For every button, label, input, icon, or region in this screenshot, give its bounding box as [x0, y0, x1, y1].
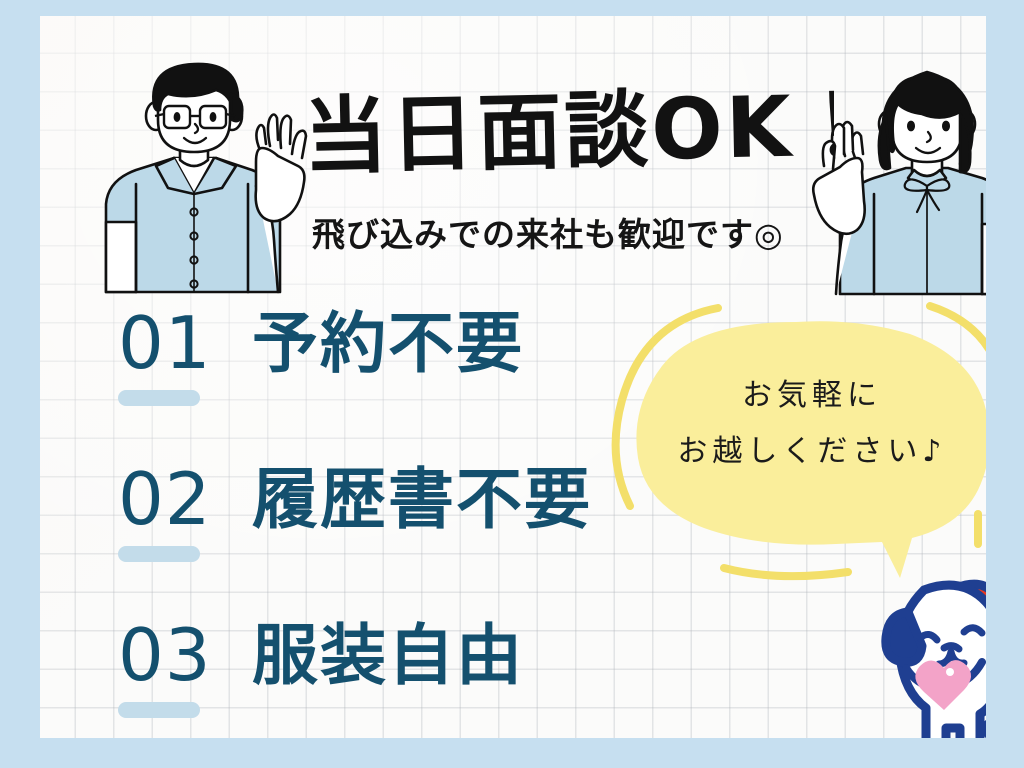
- list-item-number-wrap: 03: [118, 614, 238, 724]
- speech-bubble-text: お気軽に お越しください♪: [632, 368, 986, 480]
- list-item-label: 予約不要: [252, 298, 524, 390]
- subtitle-text: 飛び込みでの来社も歓迎です◎: [312, 215, 784, 254]
- page-headline: 当日面談OK！: [304, 84, 834, 189]
- dog-mascot: [864, 564, 986, 738]
- list-item-number: 03: [118, 614, 212, 696]
- list-item-number: 02: [118, 458, 212, 540]
- list-item-number: 01: [118, 302, 212, 384]
- bubble-line-2: お越しください♪: [632, 424, 986, 480]
- page-subtitle: 飛び込みでの来社も歓迎です◎: [302, 206, 812, 264]
- number-underline-bar: [118, 702, 200, 718]
- list-item-number-wrap: 02: [118, 458, 238, 568]
- bubble-line-1: お気軽に: [632, 368, 986, 424]
- grid-paper-panel: 当日面談OK！ 飛び込みでの来社も歓迎です◎: [40, 16, 986, 738]
- poster-root: 当日面談OK！ 飛び込みでの来社も歓迎です◎: [0, 0, 1024, 768]
- number-underline-bar: [118, 390, 200, 406]
- feature-list: 01 予約不要 02 履歴書不要 03 服装自由: [80, 302, 640, 738]
- list-item: 03 服装自由: [80, 614, 640, 738]
- number-underline-bar: [118, 546, 200, 562]
- headline-text: 当日面談OK！: [304, 84, 834, 186]
- illustration-man-waving: [88, 54, 308, 294]
- list-item-number-wrap: 01: [118, 302, 238, 412]
- list-item: 02 履歴書不要: [80, 458, 640, 614]
- illustration-woman-waving: [810, 54, 986, 296]
- list-item-label: 履歴書不要: [252, 454, 592, 546]
- list-item-label: 服装自由: [252, 610, 524, 702]
- list-item: 01 予約不要: [80, 302, 640, 458]
